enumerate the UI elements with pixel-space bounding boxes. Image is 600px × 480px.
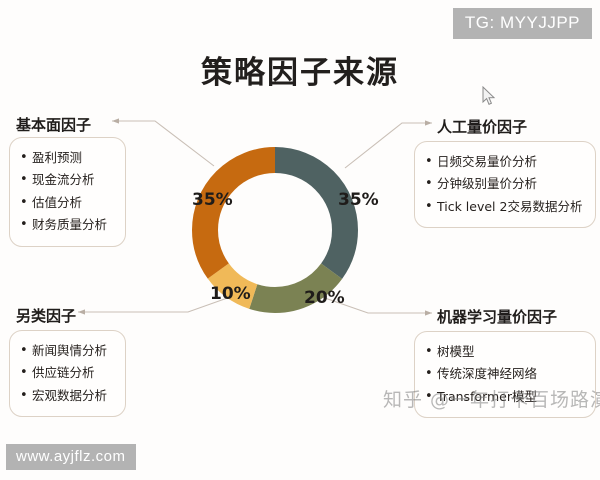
donut-label-alt: 10%	[210, 284, 251, 304]
donut-label-ml: 20%	[304, 288, 345, 308]
watermark-url: www.ayjflz.com	[6, 444, 136, 470]
list-item: 宏观数据分析	[19, 385, 114, 407]
infographic-canvas: 策略因子来源	[0, 0, 600, 480]
category-heading-fundamental: 基本面因子	[16, 114, 91, 135]
list-item: Tick level 2交易数据分析	[424, 196, 584, 218]
list-item: 盈利预测	[19, 147, 114, 169]
list-item: 财务质量分析	[19, 214, 114, 236]
page-title: 策略因子来源	[0, 47, 600, 92]
list-item: 传统深度神经网络	[424, 363, 584, 385]
category-heading-alt: 另类因子	[16, 305, 76, 326]
donut-label-manual: 35%	[338, 190, 379, 210]
list-item: 现金流分析	[19, 169, 114, 191]
category-heading-ml: 机器学习量价因子	[437, 306, 557, 327]
category-box-fundamental: 盈利预测 现金流分析 估值分析 财务质量分析	[9, 137, 126, 247]
list-item: 树模型	[424, 341, 584, 363]
watermark-zhihu: 知乎 @一年打卡百场路演	[383, 385, 600, 412]
category-box-manual: 日频交易量价分析 分钟级别量价分析 Tick level 2交易数据分析	[414, 141, 596, 228]
donut-label-fundamental: 35%	[192, 190, 233, 210]
category-heading-manual: 人工量价因子	[437, 116, 527, 137]
list-item: 日频交易量价分析	[424, 151, 584, 173]
list-item: 供应链分析	[19, 362, 114, 384]
list-item: 分钟级别量价分析	[424, 173, 584, 195]
list-item: 新闻舆情分析	[19, 340, 114, 362]
watermark-telegram: TG: MYYJJPP	[453, 8, 592, 39]
list-item: 估值分析	[19, 192, 114, 214]
category-box-alt: 新闻舆情分析 供应链分析 宏观数据分析	[9, 330, 126, 417]
